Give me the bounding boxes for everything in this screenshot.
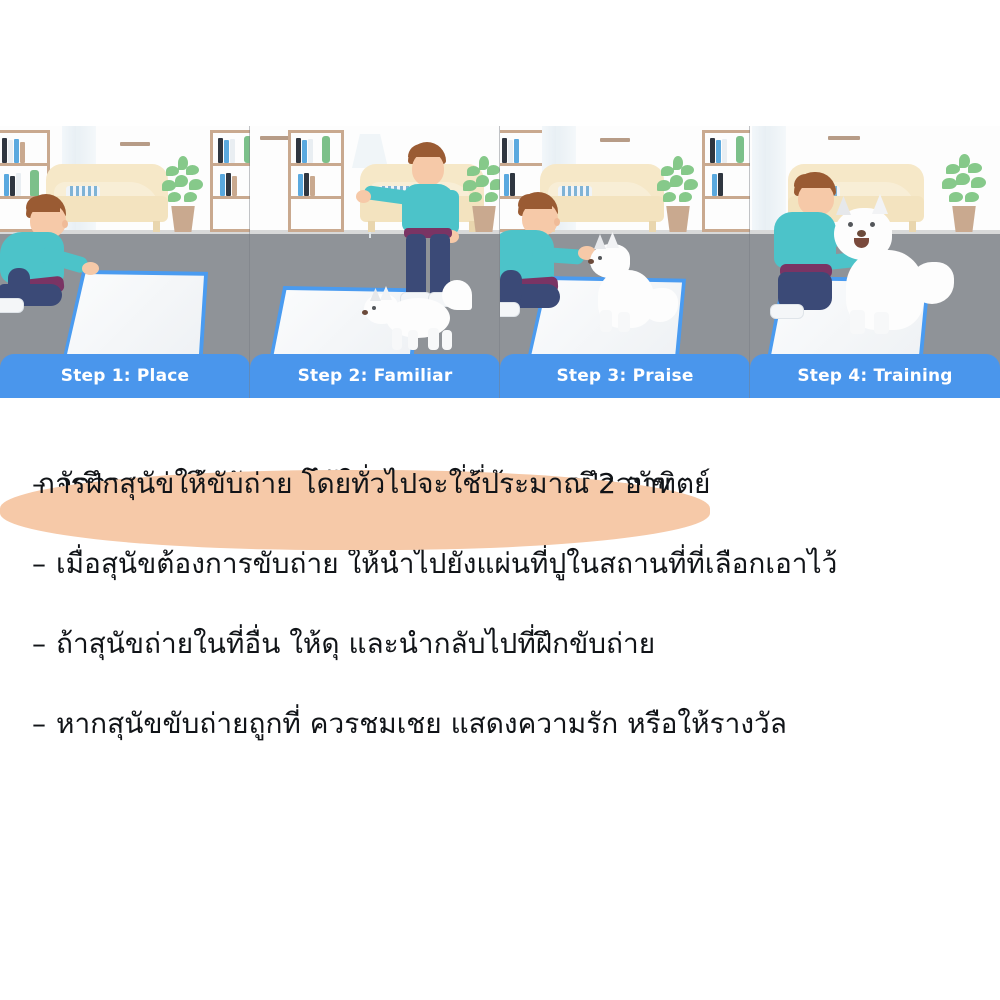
wall-shelf [828, 136, 860, 140]
description-bullet-4: –หากสุนัขขับถ่ายถูกที่ ควรชมเชย แสดงความ… [0, 710, 1000, 790]
bookcase-right-icon [210, 130, 250, 232]
step-banner-label-4: Step 4: Training [797, 366, 952, 386]
bullet-marker-4: – [32, 710, 56, 738]
step-banner-label-3: Step 3: Praise [556, 366, 693, 386]
bullet-text-4: หากสุนัขขับถ่ายถูกที่ ควรชมเชย แสดงความร… [56, 707, 787, 740]
step-banner-3: Step 3: Praise [500, 354, 750, 398]
step-banner-1: Step 1: Place [0, 354, 250, 398]
step-panel-1: Step 1: Place [0, 126, 250, 398]
step-panel-2: Step 2: Familiar [250, 126, 500, 398]
bullet-marker-3: – [32, 630, 56, 658]
wall-shelf [120, 142, 150, 146]
bullet-text-2: เมื่อสุนัขต้องการขับถ่าย ให้นำไปยังแผ่นท… [56, 547, 837, 580]
dog-sitting-large [806, 192, 966, 342]
bookcase-icon [288, 130, 344, 232]
step-banner-label-1: Step 1: Place [61, 366, 190, 386]
step-panel-4: Step 4: Training [750, 126, 1000, 398]
bullet-text-3: ถ้าสุนัขถ่ายในที่อื่น ให้ดุ และนำกลับไปท… [56, 627, 655, 660]
description-bullet-2: –เมื่อสุนัขต้องการขับถ่าย ให้นำไปยังแผ่น… [0, 550, 1000, 630]
step-banner-2: Step 2: Familiar [250, 354, 500, 398]
wall-shelf [600, 138, 630, 142]
potted-plant [160, 156, 206, 232]
bullet-marker-2: – [32, 550, 56, 578]
person-kneeling [0, 194, 106, 304]
wall-shelf [260, 136, 290, 140]
description-bullet-3: –ถ้าสุนัขถ่ายในที่อื่น ให้ดุ และนำกลับไป… [0, 630, 1000, 710]
description-text-block: การฝึกสุนัขให้ขับถ่าย โดยทั่วไปจะใช้ประม… [0, 470, 1000, 790]
step-banner-label-2: Step 2: Familiar [298, 366, 453, 386]
dog-walking [358, 284, 478, 354]
potted-plant [656, 156, 700, 232]
step-banner-4: Step 4: Training [750, 354, 1000, 398]
bookcase-right-icon [702, 130, 750, 232]
description-heading: การฝึกสุนัขให้ขับถ่าย โดยทั่วไปจะใช้ประม… [0, 470, 710, 550]
steps-illustration-strip: Step 1: Place [0, 126, 1000, 398]
step-panel-3: Step 3: Praise [500, 126, 750, 398]
dog-sitting [572, 226, 692, 334]
